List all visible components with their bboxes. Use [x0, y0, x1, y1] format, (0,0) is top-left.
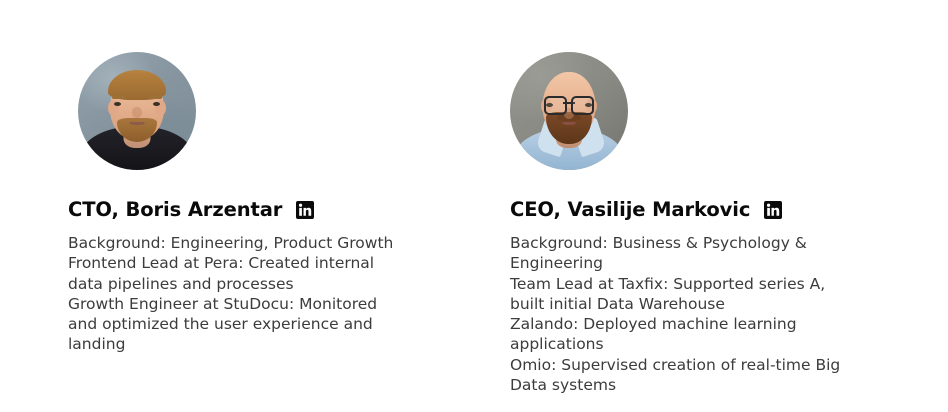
- linkedin-icon[interactable]: [296, 201, 314, 219]
- profile-name-cto: CTO, Boris Arzentar: [68, 198, 282, 221]
- profile-bio-cto: Background: Engineering, Product Growth …: [68, 233, 408, 355]
- avatar-boris-arzentar: [78, 52, 196, 170]
- glasses-lens-right: [571, 96, 594, 115]
- avatar-eye-left: [114, 102, 121, 106]
- profile-name-row: CEO, Vasilije Markovic: [510, 198, 910, 221]
- bio-line: Growth Engineer at StuDocu: Monitored an…: [68, 294, 408, 355]
- avatar-mouth: [563, 122, 576, 125]
- profile-bio-ceo: Background: Business & Psychology & Engi…: [510, 233, 855, 395]
- bio-line: Omio: Supervised creation of real-time B…: [510, 355, 855, 396]
- bio-line: Zalando: Deployed machine learning appli…: [510, 314, 855, 355]
- avatar-eyebrow-left: [112, 96, 125, 99]
- avatar-eyebrow-right: [149, 96, 162, 99]
- bio-line: Background: Engineering, Product Growth: [68, 233, 408, 253]
- glasses-lens-left: [544, 96, 567, 115]
- linkedin-icon[interactable]: [764, 201, 782, 219]
- avatar-mouth: [130, 122, 145, 125]
- avatar-eye-right: [153, 102, 160, 106]
- team-profiles-section: CTO, Boris Arzentar Background: Engineer…: [0, 0, 948, 412]
- bio-line: Background: Business & Psychology & Engi…: [510, 233, 855, 274]
- avatar-nose: [132, 107, 142, 118]
- profile-card-cto: CTO, Boris Arzentar Background: Engineer…: [68, 0, 468, 355]
- bio-line: Frontend Lead at Pera: Created internal …: [68, 253, 408, 294]
- profile-card-ceo: CEO, Vasilije Markovic Background: Busin…: [510, 0, 910, 395]
- bio-line: Team Lead at Taxfix: Supported series A,…: [510, 274, 855, 315]
- profile-name-ceo: CEO, Vasilije Markovic: [510, 198, 750, 221]
- avatar-glasses: [544, 96, 594, 111]
- profile-name-row: CTO, Boris Arzentar: [68, 198, 468, 221]
- avatar-vasilije-markovic: [510, 52, 628, 170]
